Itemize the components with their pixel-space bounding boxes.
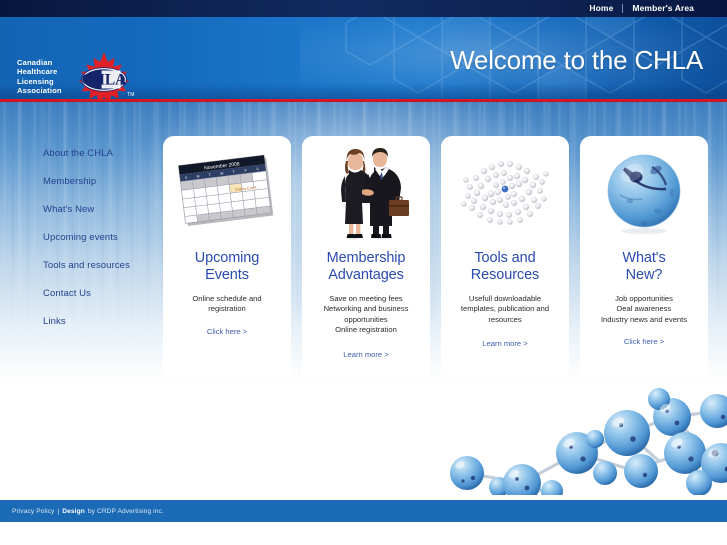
pearl-burst-icon: [450, 156, 560, 234]
page-root: Home Member's Area: [0, 0, 727, 545]
card-title: Upcoming Events: [163, 250, 291, 283]
feature-card-upcoming-events[interactable]: November 2008 SMT WTFS: [163, 136, 291, 376]
footer-links: Privacy Policy | Design by CRDP Advertis…: [12, 500, 164, 522]
card-desc-line: Save on meeting fees: [310, 294, 422, 304]
sidebar-item-upcoming-events[interactable]: Upcoming events: [43, 224, 173, 252]
card-link-click-here[interactable]: Click here >: [624, 337, 664, 346]
feature-card-whats-new[interactable]: What's New? Job opportunities Deal aware…: [580, 136, 708, 376]
logo-line-canadian: Canadian: [17, 58, 62, 67]
feature-card-tools-and-resources[interactable]: Tools and Resources Usefull downloadable…: [441, 136, 569, 376]
card-title-line2: Advantages: [302, 267, 430, 284]
top-utility-links: Home Member's Area: [580, 0, 703, 17]
card-title-line2: Events: [163, 267, 291, 284]
card-description: Online schedule and registration: [163, 294, 291, 315]
card-link-learn-more[interactable]: Learn more >: [343, 350, 388, 359]
logo-wordmark: Canadian Healthcare Licensing Associatio…: [17, 58, 62, 96]
card-description: Job opportunities Deal awareness Industr…: [580, 294, 708, 325]
footer-design-label: Design: [62, 508, 85, 515]
card-figure: [580, 144, 708, 244]
logo-mark-text: CHLA: [82, 72, 128, 89]
card-link-click-here[interactable]: Click here >: [207, 327, 247, 336]
card-desc-line: Usefull downloadable: [449, 294, 561, 304]
card-desc-line: Deal awareness: [588, 304, 700, 314]
chla-logo[interactable]: Canadian Healthcare Licensing Associatio…: [17, 55, 152, 99]
logo-line-healthcare: Healthcare: [17, 67, 62, 76]
sidebar-nav: About the CHLA Membership What's New Upc…: [43, 140, 173, 336]
logo-line-association: Association: [17, 86, 62, 95]
sidebar-item-links[interactable]: Links: [43, 308, 173, 336]
sidebar-item-whats-new[interactable]: What's New: [43, 196, 173, 224]
topnav-home[interactable]: Home: [580, 0, 622, 17]
blue-globe-icon: [600, 149, 688, 237]
card-title: What's New?: [580, 250, 708, 283]
logo-line-licensing: Licensing: [17, 77, 62, 86]
card-title-line1: Tools and: [441, 250, 569, 267]
card-desc-line: registration: [171, 304, 283, 314]
topnav-members-area[interactable]: Member's Area: [623, 0, 703, 17]
card-title-line2: Resources: [441, 267, 569, 284]
footer-credit: by CRDP Advertising inc.: [88, 508, 164, 515]
card-desc-line: Industry news and events: [588, 315, 700, 325]
card-desc-line: opportunities: [310, 315, 422, 325]
card-link-learn-more[interactable]: Learn more >: [482, 339, 527, 348]
sidebar-item-membership[interactable]: Membership: [43, 168, 173, 196]
site-header-banner: Canadian Healthcare Licensing Associatio…: [0, 17, 727, 99]
card-figure: [441, 144, 569, 244]
page-title: Welcome to the CHLA: [450, 45, 703, 76]
sidebar-item-tools-and-resources[interactable]: Tools and resources: [43, 252, 173, 280]
card-desc-line: Online registration: [310, 325, 422, 335]
card-description: Usefull downloadable templates, publicat…: [441, 294, 569, 325]
footer-link-privacy-policy[interactable]: Privacy Policy: [12, 508, 54, 515]
feature-card-row: November 2008 SMT WTFS: [163, 136, 708, 376]
card-desc-line: Job opportunities: [588, 294, 700, 304]
sidebar-item-contact-us[interactable]: Contact Us: [43, 280, 173, 308]
feature-card-membership-advantages[interactable]: Membership Advantages Save on meeting fe…: [302, 136, 430, 376]
card-description: Save on meeting fees Networking and busi…: [302, 294, 430, 336]
card-title-line1: Membership: [302, 250, 430, 267]
card-title: Membership Advantages: [302, 250, 430, 283]
logo-trademark: TM: [127, 92, 135, 98]
card-desc-line: Networking and business: [310, 304, 422, 314]
card-desc-line: resources: [449, 315, 561, 325]
calendar-icon: November 2008 SMT WTFS: [173, 148, 281, 234]
footer-separator: |: [57, 508, 59, 515]
card-title-line1: Upcoming: [163, 250, 291, 267]
card-title: Tools and Resources: [441, 250, 569, 283]
site-footer: Privacy Policy | Design by CRDP Advertis…: [0, 500, 727, 522]
card-desc-line: templates, publication and: [449, 304, 561, 314]
card-title-line2: New?: [580, 267, 708, 284]
sidebar-item-about-the-chla[interactable]: About the CHLA: [43, 140, 173, 168]
maple-leaf-icon: CHLA: [73, 50, 135, 99]
molecule-decoration-icon: [427, 375, 727, 495]
card-figure: November 2008 SMT WTFS: [163, 144, 291, 244]
card-title-line1: What's: [580, 250, 708, 267]
card-desc-line: Online schedule and: [171, 294, 283, 304]
business-handshake-icon: [318, 144, 414, 242]
card-figure: [302, 144, 430, 244]
top-utility-bar: Home Member's Area: [0, 0, 727, 17]
